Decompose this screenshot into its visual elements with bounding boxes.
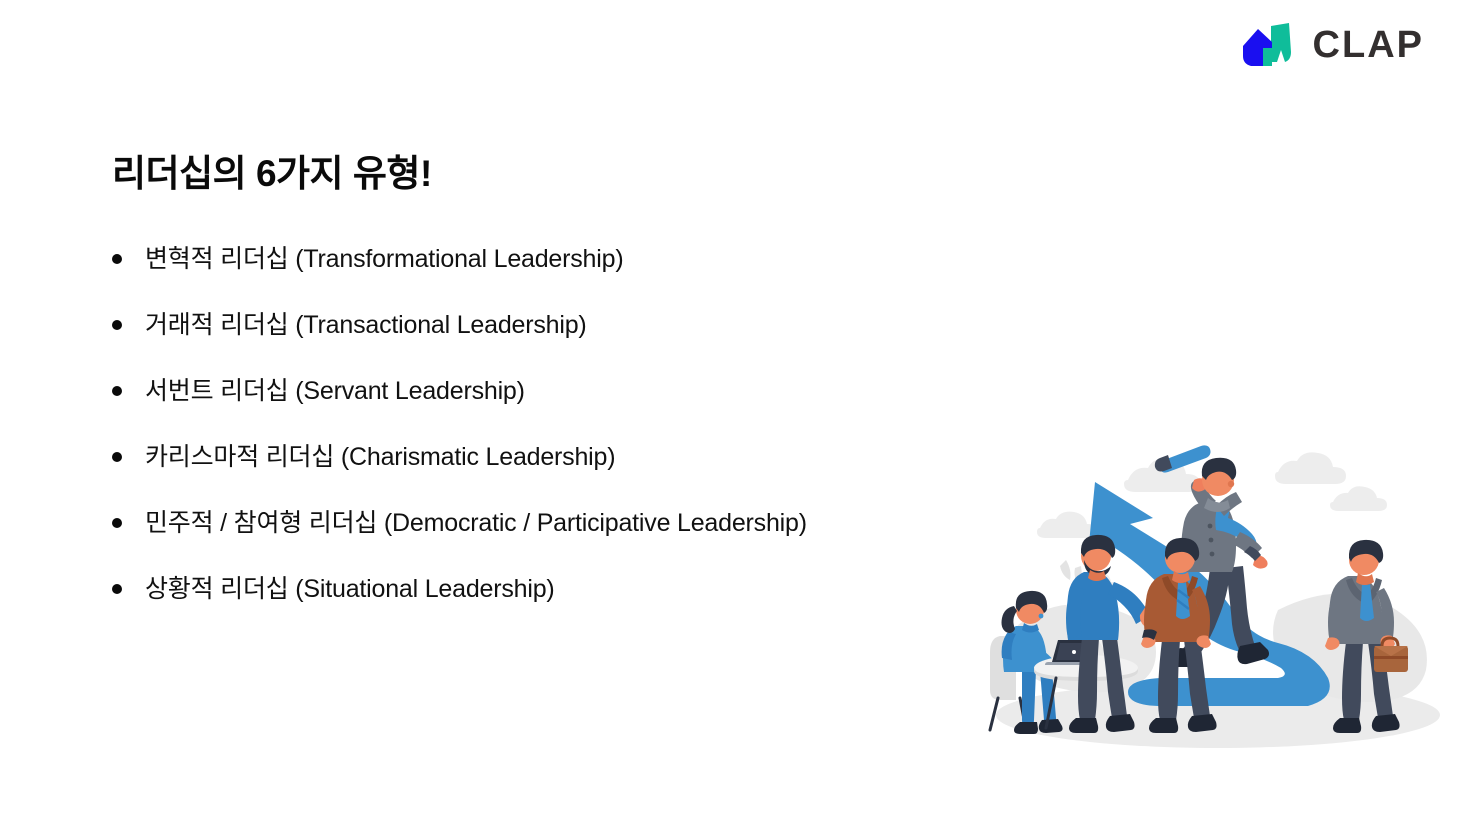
clap-logo-mark-icon [1241,22,1299,68]
bullet-dot-icon [112,320,122,330]
bullet-dot-icon [112,584,122,594]
clap-logo[interactable]: CLAP [1241,22,1424,68]
list-item-label: 상황적 리더십 (Situational Leadership) [145,568,555,610]
list-item-label: 변혁적 리더십 (Transformational Leadership) [145,238,623,280]
bullet-dot-icon [112,254,122,264]
bullet-dot-icon [112,452,122,462]
list-item: 카리스마적 리더십 (Charismatic Leadership) [112,436,1062,502]
list-item: 민주적 / 참여형 리더십 (Democratic / Participativ… [112,502,1062,568]
bullet-dot-icon [112,518,122,528]
list-item: 상황적 리더십 (Situational Leadership) [112,568,1062,634]
list-item: 거래적 리더십 (Transactional Leadership) [112,304,1062,370]
clap-wordmark: CLAP [1313,26,1424,64]
list-item-label: 거래적 리더십 (Transactional Leadership) [145,304,587,346]
leadership-illustration [978,440,1448,770]
list-item: 변혁적 리더십 (Transformational Leadership) [112,238,1062,304]
list-item: 서번트 리더십 (Servant Leadership) [112,370,1062,436]
bullet-dot-icon [112,386,122,396]
list-item-label: 서번트 리더십 (Servant Leadership) [145,370,525,412]
list-item-label: 민주적 / 참여형 리더십 (Democratic / Participativ… [145,502,807,544]
leadership-types-list: 변혁적 리더십 (Transformational Leadership) 거래… [112,238,1062,634]
list-item-label: 카리스마적 리더십 (Charismatic Leadership) [145,436,615,478]
page-title: 리더십의 6가지 유형! [112,151,432,197]
slide-canvas: CLAP 리더십의 6가지 유형! 변혁적 리더십 (Transformatio… [0,0,1458,818]
